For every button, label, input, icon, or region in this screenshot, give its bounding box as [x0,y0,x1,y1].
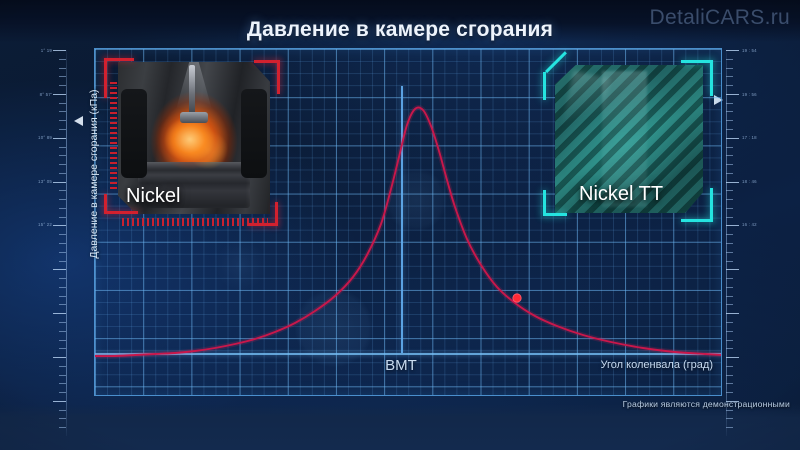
ruler-label: 1° 19 [41,48,52,53]
ruler-tick-minor [59,173,66,174]
ruler-tick-minor [726,217,733,218]
ruler-tick-minor [59,331,66,332]
ruler-tick-minor [726,331,733,332]
ruler-tick-minor [726,59,733,60]
ruler-tick-minor [59,278,66,279]
ruler-tick-minor [59,199,66,200]
ruler-tick-major [53,94,66,95]
ruler-tick-minor [726,340,733,341]
ruler-tick-minor [59,120,66,121]
ruler-tick-minor [59,410,66,411]
ruler-tick-minor [59,147,66,148]
ruler-tick-minor [726,410,733,411]
ruler-label: 13° 05 [38,179,52,184]
ruler-tick-minor [726,199,733,200]
ruler-tick-minor [726,322,733,323]
ruler-label: 19 : 56 [742,92,757,97]
ruler-tick-minor [59,366,66,367]
ruler-tick-minor [59,68,66,69]
ruler-tick-minor [59,252,66,253]
ruler-label: 18 : 46 [742,179,757,184]
ruler-tick-minor [726,304,733,305]
ruler-tick-minor [59,383,66,384]
x-axis-label: Угол коленвала (град) [601,359,713,371]
bottom-gradient-band [0,404,800,450]
ruler-tick-major [53,357,66,358]
spark-plug-head [180,112,207,123]
frame-comb-bottom [122,218,268,226]
cylinder-wall-right [241,89,267,177]
ruler-tick-minor [59,261,66,262]
ruler-tick-minor [726,129,733,130]
ruler-tick-minor [59,164,66,165]
ruler-tick-minor [59,243,66,244]
ruler-tick-minor [726,234,733,235]
ruler-tick-minor [726,278,733,279]
ruler-label: 8° 57' [40,92,52,97]
card-nickel-tt-label: Nickel TT [579,183,663,206]
ruler-tick-minor [59,59,66,60]
ruler-label: 16 : 42 [742,222,757,227]
ruler-tick-major [726,313,739,314]
ruler-tick-minor [59,392,66,393]
ruler-tick-minor [59,103,66,104]
ruler-tick-minor [59,76,66,77]
card-nickel-tt[interactable]: Nickel TT [543,58,713,224]
ruler-tick-minor [726,383,733,384]
ruler-tick-minor [59,348,66,349]
frame-comb-left [110,82,117,190]
video-frame: Давление в камере сгорания DetaliCARS.ru… [0,0,800,450]
ruler-tick-minor [726,76,733,77]
ruler-tick-minor [726,164,733,165]
ruler-tick-major [726,138,739,139]
ruler-tick-minor [726,173,733,174]
ruler-label: 10° 89 [38,135,52,140]
y-axis-label-text: Давление в камере сгорания (кПа) [88,49,100,299]
ruler-tick-minor [59,322,66,323]
ruler-label: 17 : 18 [742,135,757,140]
ruler-tick-minor [726,103,733,104]
tdc-label: BMT [346,357,456,374]
ruler-tick-major [726,50,739,51]
ruler-tick-major [53,182,66,183]
card-nickel[interactable]: Nickel [104,54,280,228]
ruler-tick-major [53,313,66,314]
ruler-tick-major [53,50,66,51]
ruler-tick-major [53,401,66,402]
ruler-tick-minor [726,418,733,419]
ruler-tick-minor [726,120,733,121]
ruler-tick-major [726,225,739,226]
ruler-tick-minor [726,111,733,112]
disclaimer-text: Графики являются демонстрационными [623,399,790,409]
ruler-tick-minor [726,155,733,156]
ruler-tick-major [53,225,66,226]
ruler-tick-minor [726,208,733,209]
ruler-tick-major [53,138,66,139]
ruler-tick-minor [59,340,66,341]
left-ruler-spine [66,50,67,436]
ruler-tick-minor [726,252,733,253]
ruler-tick-minor [59,375,66,376]
ruler-tick-minor [59,234,66,235]
ruler-tick-minor [726,375,733,376]
right-ruler: 19 : 5419 : 5617 : 1818 : 4616 : 42 [716,40,772,440]
ruler-tick-major [726,269,739,270]
ruler-tick-minor [726,287,733,288]
ruler-tick-minor [726,296,733,297]
ruler-tick-minor [59,304,66,305]
ruler-label: 15° 22 [38,222,52,227]
ruler-tick-major [726,357,739,358]
ruler-tick-minor [59,287,66,288]
ruler-tick-minor [726,427,733,428]
ruler-tick-minor [59,85,66,86]
ruler-tick-minor [726,147,733,148]
ruler-tick-minor [59,111,66,112]
ruler-tick-minor [59,190,66,191]
card-nickel-label: Nickel [126,185,180,208]
ruler-tick-minor [59,217,66,218]
ruler-tick-minor [726,85,733,86]
ruler-tick-minor [726,243,733,244]
ruler-tick-minor [59,129,66,130]
ruler-tick-minor [726,68,733,69]
ruler-tick-major [53,269,66,270]
ruler-tick-major [726,182,739,183]
cylinder-wall-left [121,89,147,177]
watermark: DetaliCARS.ru [650,6,790,30]
ruler-label: 19 : 54 [742,48,757,53]
ruler-tick-major [726,94,739,95]
ruler-tick-minor [726,366,733,367]
ruler-tick-minor [59,418,66,419]
y-axis-label: Давление в камере сгорания (кПа) [74,48,94,308]
ruler-tick-minor [59,208,66,209]
ruler-tick-minor [726,261,733,262]
spark-plug-electrode [189,65,195,117]
ruler-tick-minor [726,348,733,349]
ruler-tick-minor [726,190,733,191]
ruler-tick-minor [726,392,733,393]
left-ruler: 1° 198° 57'10° 8913° 0515° 22 [22,40,78,440]
ruler-tick-minor [59,155,66,156]
curve-point-marker [513,294,521,302]
ruler-tick-minor [59,427,66,428]
ruler-tick-minor [59,296,66,297]
